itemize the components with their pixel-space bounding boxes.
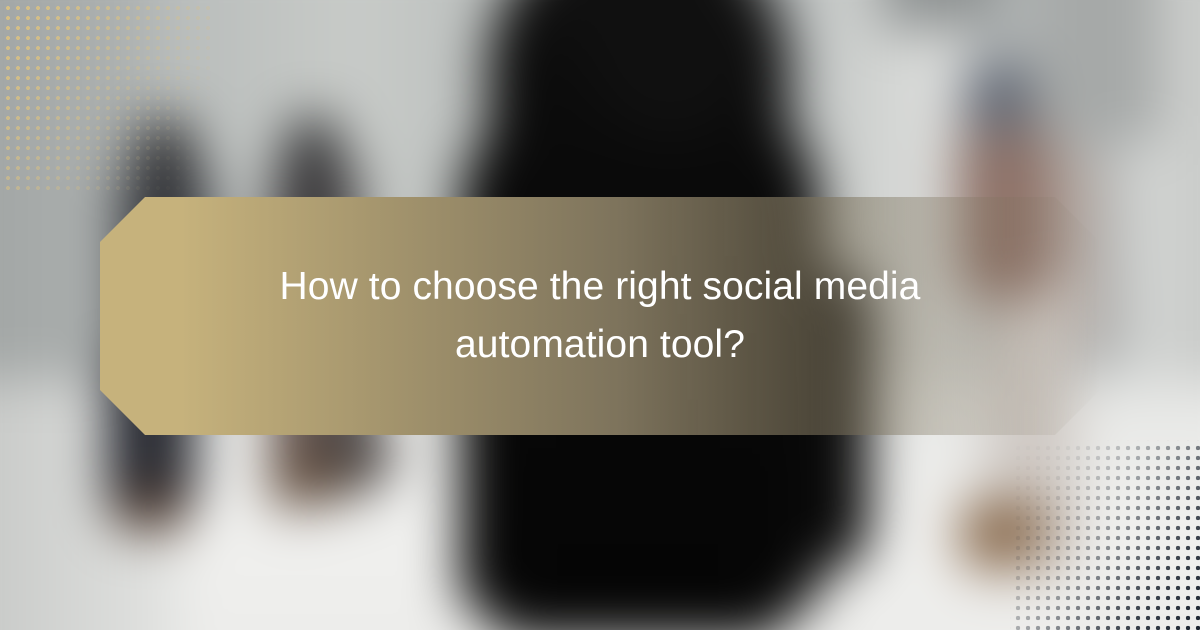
- photo-person-mid: [286, 116, 340, 174]
- photo-person-left: [136, 118, 194, 178]
- page-title-line-1: How to choose the right social media: [280, 265, 921, 308]
- photo-person-right: [962, 60, 1034, 136]
- photo-person-right: [960, 500, 1046, 570]
- photo-window: [1030, 0, 1160, 140]
- title-banner: How to choose the right social mediaauto…: [100, 197, 1100, 435]
- page-title: How to choose the right social mediaauto…: [220, 258, 980, 373]
- page-title-line-2: automation tool?: [455, 323, 745, 366]
- photo-window: [880, 0, 1000, 30]
- photo-person-left: [116, 488, 186, 530]
- photo-person-mid: [332, 440, 394, 474]
- banner-stage: How to choose the right social mediaauto…: [0, 0, 1200, 630]
